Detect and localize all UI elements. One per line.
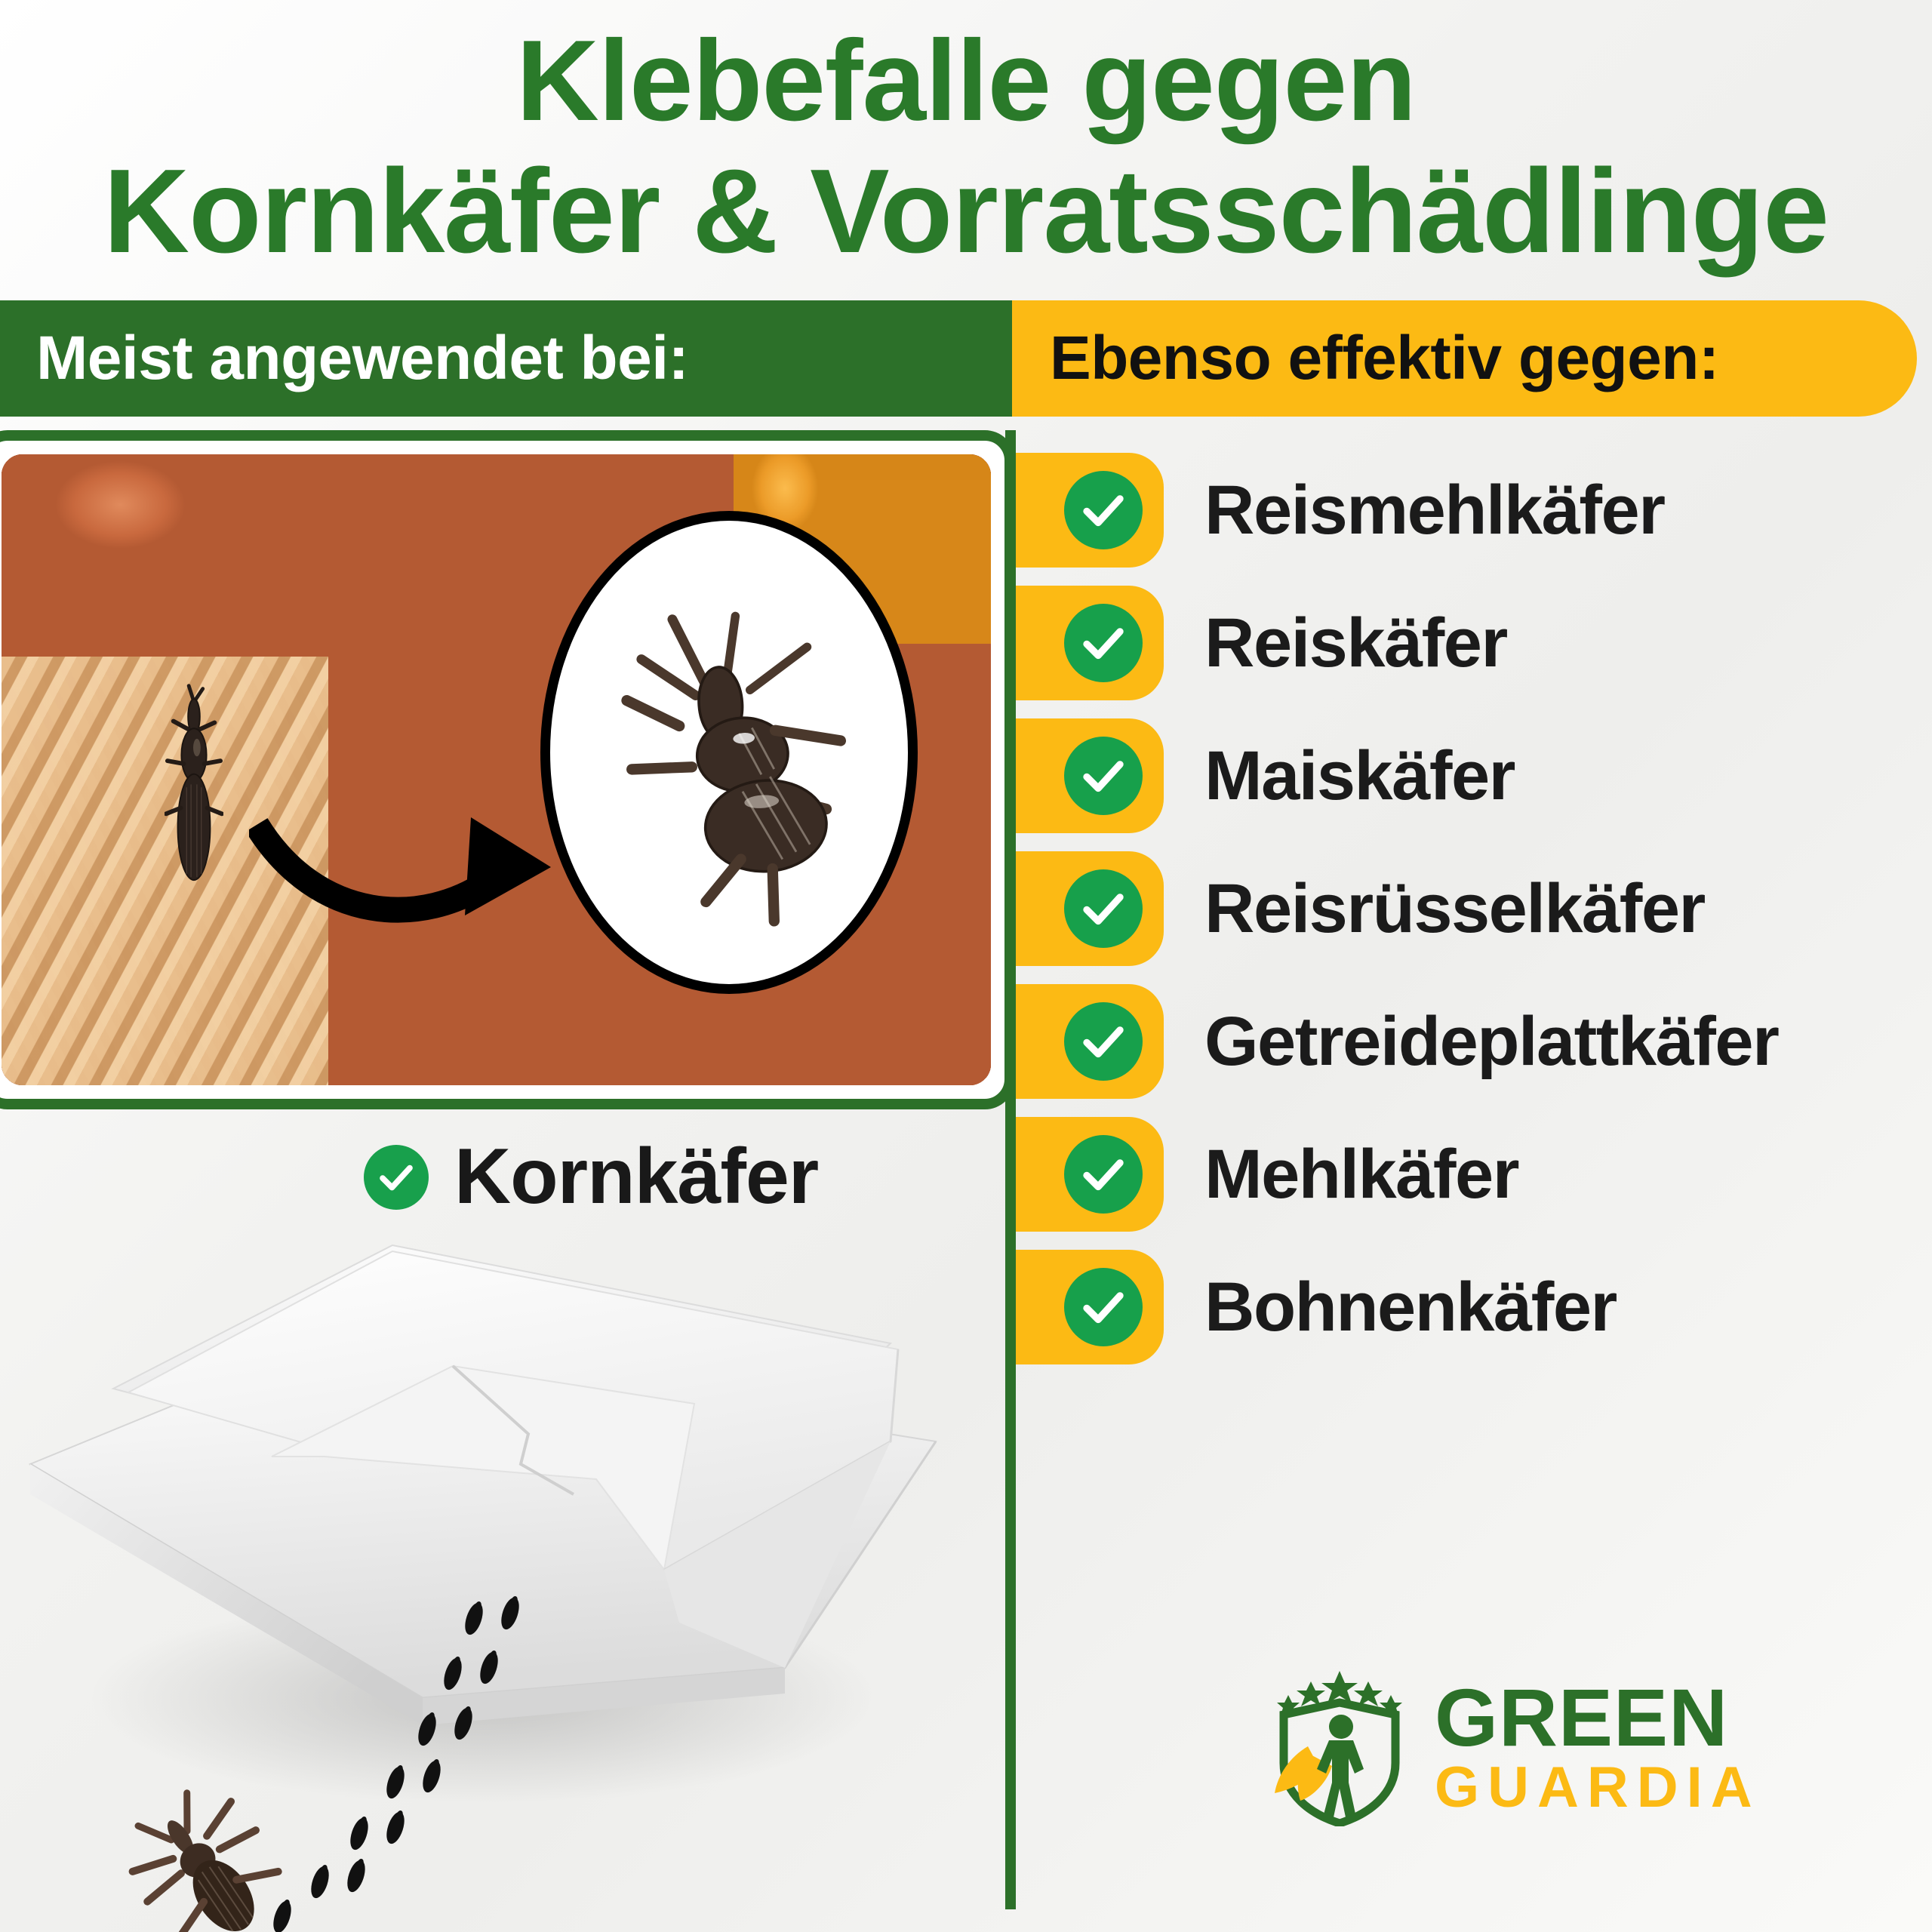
list-item[interactable]: Reismehlkäfer [1016, 453, 1932, 568]
page-title: Klebefalle gegen Kornkäfer & Vorratsschä… [0, 17, 1932, 278]
check-circle-icon [1064, 1268, 1143, 1346]
section-headers: Meist angewendet bei: Ebenso effektiv ge… [0, 300, 1932, 417]
magnified-weevil-inset [540, 511, 918, 994]
kornkaefer-caption: Kornkäfer [364, 1132, 818, 1222]
check-pill [1016, 984, 1164, 1099]
check-circle-icon [1064, 471, 1143, 549]
pest-name: Bohnenkäfer [1204, 1268, 1617, 1347]
magnify-arrow-icon [249, 795, 566, 938]
title-line-1: Klebefalle gegen [0, 17, 1932, 145]
header-left-bar: Meist angewendet bei: [0, 300, 1012, 417]
pest-photo-frame [0, 430, 1015, 1109]
trap-and-weevil-graphic [0, 1215, 981, 1932]
check-circle-icon [1064, 604, 1143, 682]
logo-wordmark: GREEN GUARDIA [1435, 1678, 1761, 1817]
check-circle-icon [1064, 1135, 1143, 1214]
header-left-label: Meist angewendet bei: [36, 323, 688, 394]
check-circle-icon [364, 1145, 429, 1210]
list-item[interactable]: Maiskäfer [1016, 718, 1932, 833]
pest-name: Reisrüsselkäfer [1204, 869, 1705, 949]
pest-name: Reiskäfer [1204, 604, 1507, 683]
pest-name: Getreideplattkäfer [1204, 1002, 1778, 1081]
pest-photo [2, 454, 991, 1085]
check-circle-icon [1064, 1002, 1143, 1081]
title-line-2: Kornkäfer & Vorratsschädlinge [0, 145, 1932, 278]
check-pill [1016, 453, 1164, 568]
logo-guardia: GUARDIA [1435, 1761, 1761, 1816]
list-item[interactable]: Reisrüsselkäfer [1016, 851, 1932, 966]
check-circle-icon [1064, 869, 1143, 948]
header-right-bar: Ebenso effektiv gegen: [1012, 300, 1917, 417]
check-pill [1016, 1117, 1164, 1232]
brand-logo: GREEN GUARDIA [1264, 1668, 1761, 1826]
check-pill [1016, 718, 1164, 833]
shield-hero-icon [1264, 1668, 1415, 1826]
check-pill [1016, 586, 1164, 700]
list-item[interactable]: Bohnenkäfer [1016, 1250, 1932, 1364]
weevil-walking-icon [109, 1773, 298, 1932]
list-item[interactable]: Getreideplattkäfer [1016, 984, 1932, 1099]
check-circle-icon [1064, 737, 1143, 815]
logo-green: GREEN [1435, 1678, 1761, 1757]
pest-name: Maiskäfer [1204, 737, 1515, 816]
list-item[interactable]: Reiskäfer [1016, 586, 1932, 700]
pest-name: Reismehlkäfer [1204, 471, 1665, 550]
check-pill [1016, 851, 1164, 966]
pest-list: Reismehlkäfer Reiskäfer Maiskäfer Reisrü… [1016, 453, 1932, 1383]
sticky-trap-illustration [0, 1215, 981, 1932]
column-divider [1005, 430, 1016, 1909]
pest-name: Mehlkäfer [1204, 1135, 1518, 1214]
list-item[interactable]: Mehlkäfer [1016, 1117, 1932, 1232]
check-pill [1016, 1250, 1164, 1364]
header-right-label: Ebenso effektiv gegen: [1050, 323, 1719, 394]
weevil-on-grain-icon [165, 681, 223, 908]
kornkaefer-label: Kornkäfer [454, 1132, 818, 1222]
